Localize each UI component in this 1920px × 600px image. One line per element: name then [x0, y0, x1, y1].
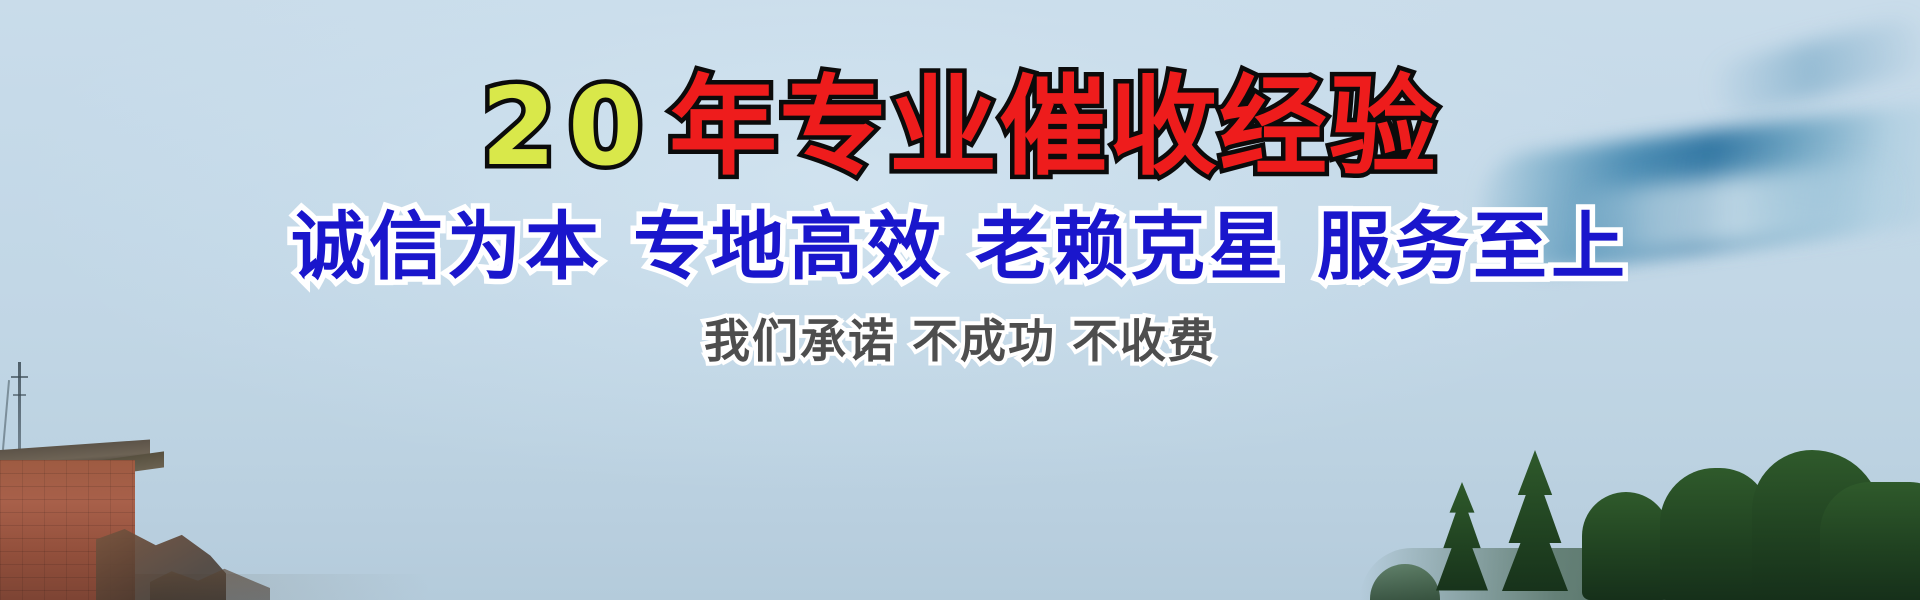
subline-segment-1: 诚信为本	[291, 204, 603, 290]
tagline-segment-1: 我们承诺	[704, 314, 896, 368]
headline-main-text: 年专业催收经验	[669, 65, 1439, 190]
subline-segment-3: 老赖克星	[975, 204, 1287, 290]
subline-slogans: 诚信为本专地高效老赖克星服务至上	[291, 210, 1629, 284]
subline-segment-4: 服务至上	[1317, 204, 1629, 290]
headline: 20年专业催收经验	[481, 74, 1439, 182]
tagline-promise: 我们承诺不成功不收费	[704, 318, 1216, 364]
headline-years-number: 20	[481, 65, 655, 190]
promo-banner: 20年专业催收经验 诚信为本专地高效老赖克星服务至上 我们承诺不成功不收费	[0, 0, 1920, 600]
tagline-segment-3: 不收费	[1072, 314, 1216, 368]
subline-segment-2: 专地高效	[633, 204, 945, 290]
tagline-segment-2: 不成功	[912, 314, 1056, 368]
banner-text-stack: 20年专业催收经验 诚信为本专地高效老赖克星服务至上 我们承诺不成功不收费	[0, 0, 1920, 600]
